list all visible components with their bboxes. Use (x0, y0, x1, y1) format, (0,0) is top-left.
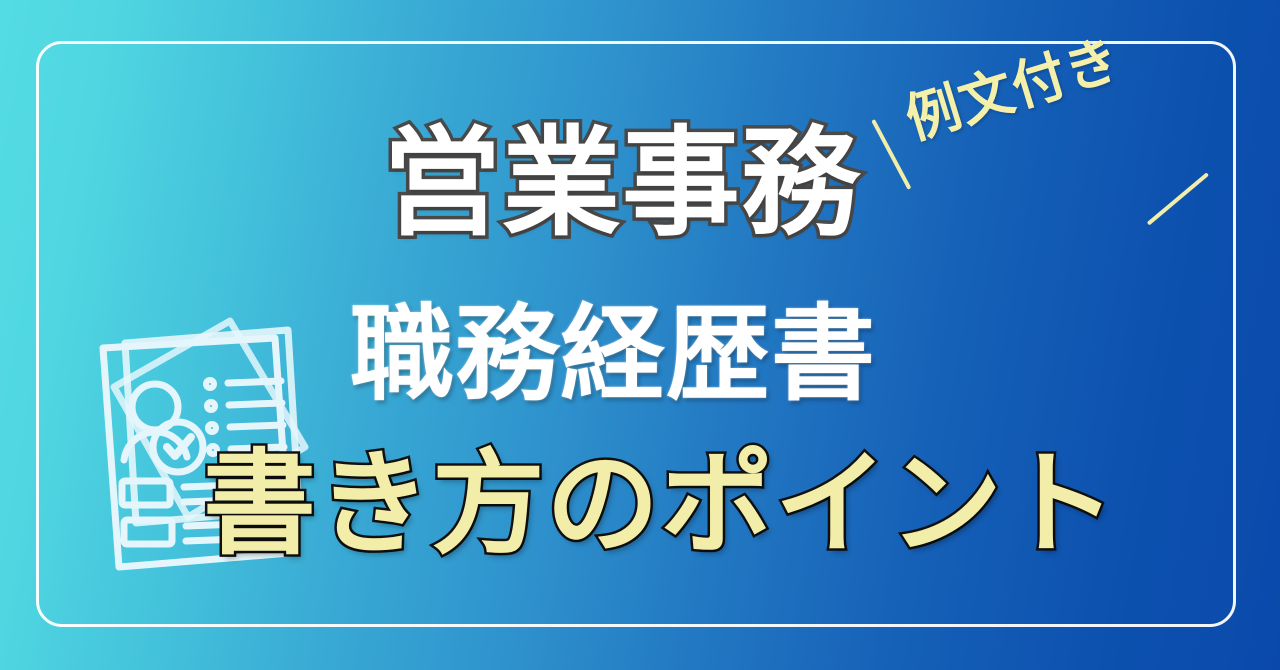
headline-line-2: 職務経歴書 (350, 302, 876, 406)
field-box-1 (122, 481, 170, 505)
badge-slash-right-icon (1147, 172, 1209, 225)
example-included-badge: 例文付き (900, 32, 1126, 148)
headline-line-1: 営業事務 (383, 124, 861, 242)
headline-line-3: 書き方のポイント (203, 448, 1118, 561)
bullet-line-1 (228, 381, 281, 383)
bullet-line-3 (230, 425, 283, 427)
bullet-line-2 (229, 403, 282, 405)
banner-canvas: 営業事務 職務経歴書 書き方のポイント 例文付き (0, 0, 1280, 670)
badge-label: 例文付き (900, 32, 1126, 148)
badge-slash-left-icon (871, 119, 911, 190)
